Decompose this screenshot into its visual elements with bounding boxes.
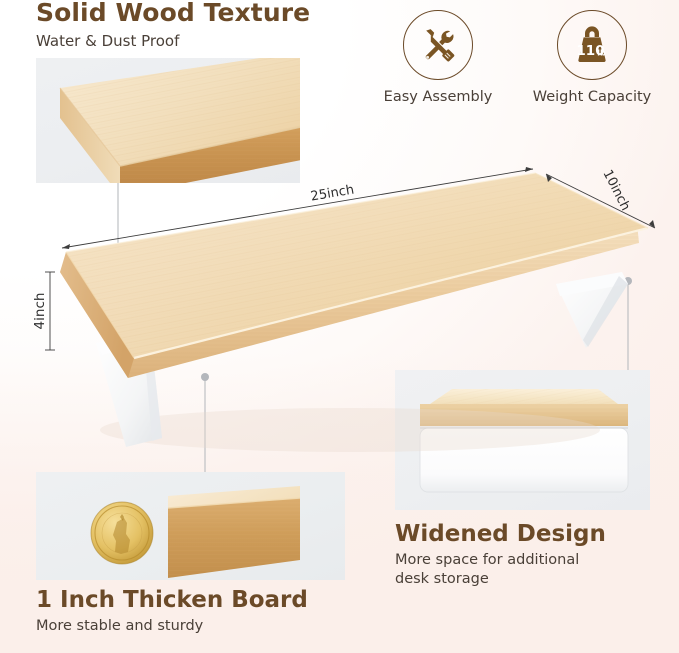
feature-badges: Easy Assembly 110 lb Weight Capacity — [382, 10, 648, 105]
weight-icon: 110 lb — [570, 24, 614, 66]
wood-slab-closeup — [60, 52, 352, 196]
badge-label: Easy Assembly — [384, 89, 493, 105]
infographic-canvas: 25inch 10inch 4inch Solid Wood Texture W… — [0, 0, 679, 653]
thicken-board-closeup — [91, 486, 300, 578]
page-subtitle: Water & Dust Proof — [36, 30, 310, 52]
caption-subtitle-line1: More space for additional — [395, 551, 606, 570]
dim-height-label: 4inch — [32, 293, 48, 330]
badge-ring: 110 lb — [557, 10, 627, 80]
badge-ring — [403, 10, 473, 80]
caption-subtitle: More stable and sturdy — [36, 617, 308, 636]
dim-length-label: 25inch — [310, 183, 356, 205]
weight-unit: lb — [597, 49, 606, 58]
caption-title: 1 Inch Thicken Board — [36, 586, 308, 614]
caption-subtitle-line2: desk storage — [395, 570, 606, 589]
badge-label: Weight Capacity — [533, 89, 652, 105]
tools-icon — [417, 24, 459, 66]
caption-thicken-board: 1 Inch Thicken Board More stable and stu… — [36, 586, 308, 636]
page-title: Solid Wood Texture — [36, 0, 310, 28]
caption-widened-design: Widened Design More space for additional… — [395, 520, 606, 589]
badge-weight-capacity: 110 lb Weight Capacity — [536, 10, 648, 105]
badge-easy-assembly: Easy Assembly — [382, 10, 494, 105]
headline-block: Solid Wood Texture Water & Dust Proof — [36, 0, 310, 52]
caption-title: Widened Design — [395, 520, 606, 548]
